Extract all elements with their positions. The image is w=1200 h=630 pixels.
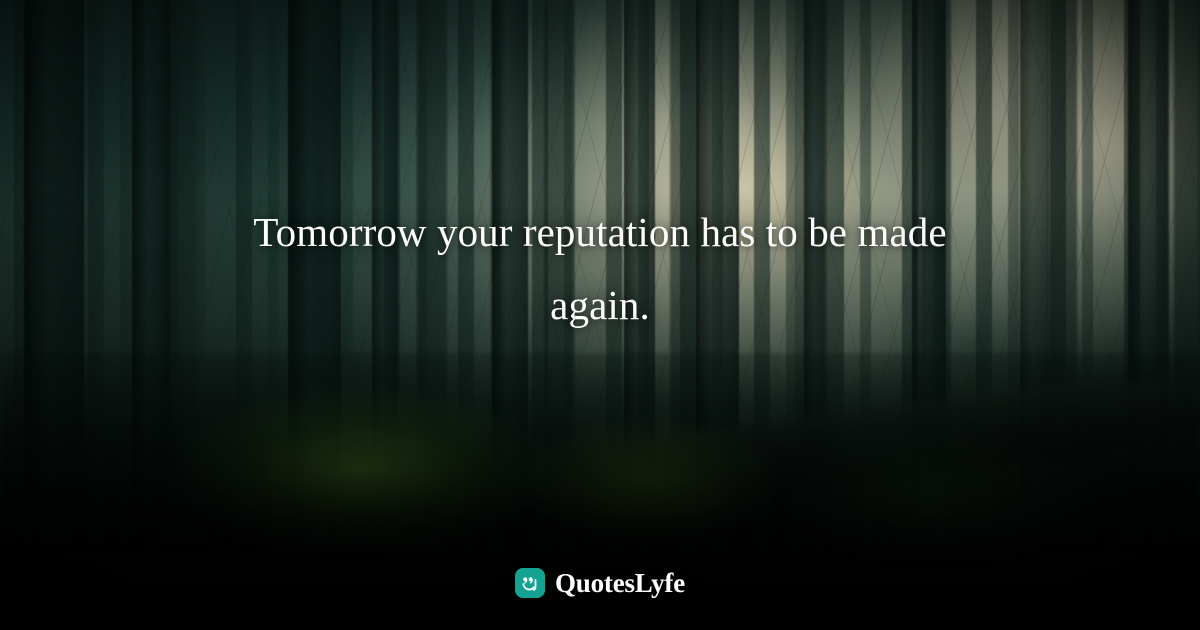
brand-wordmark[interactable]: QuotesLyfe [555, 570, 685, 597]
quoteslyfe-logo-icon[interactable] [515, 568, 545, 598]
quote-text: Tomorrow your reputation has to be made … [200, 196, 1000, 342]
quote-container: Tomorrow your reputation has to be made … [0, 196, 1200, 342]
quote-card: Tomorrow your reputation has to be made … [0, 0, 1200, 630]
brand-footer[interactable]: QuotesLyfe [0, 568, 1200, 598]
